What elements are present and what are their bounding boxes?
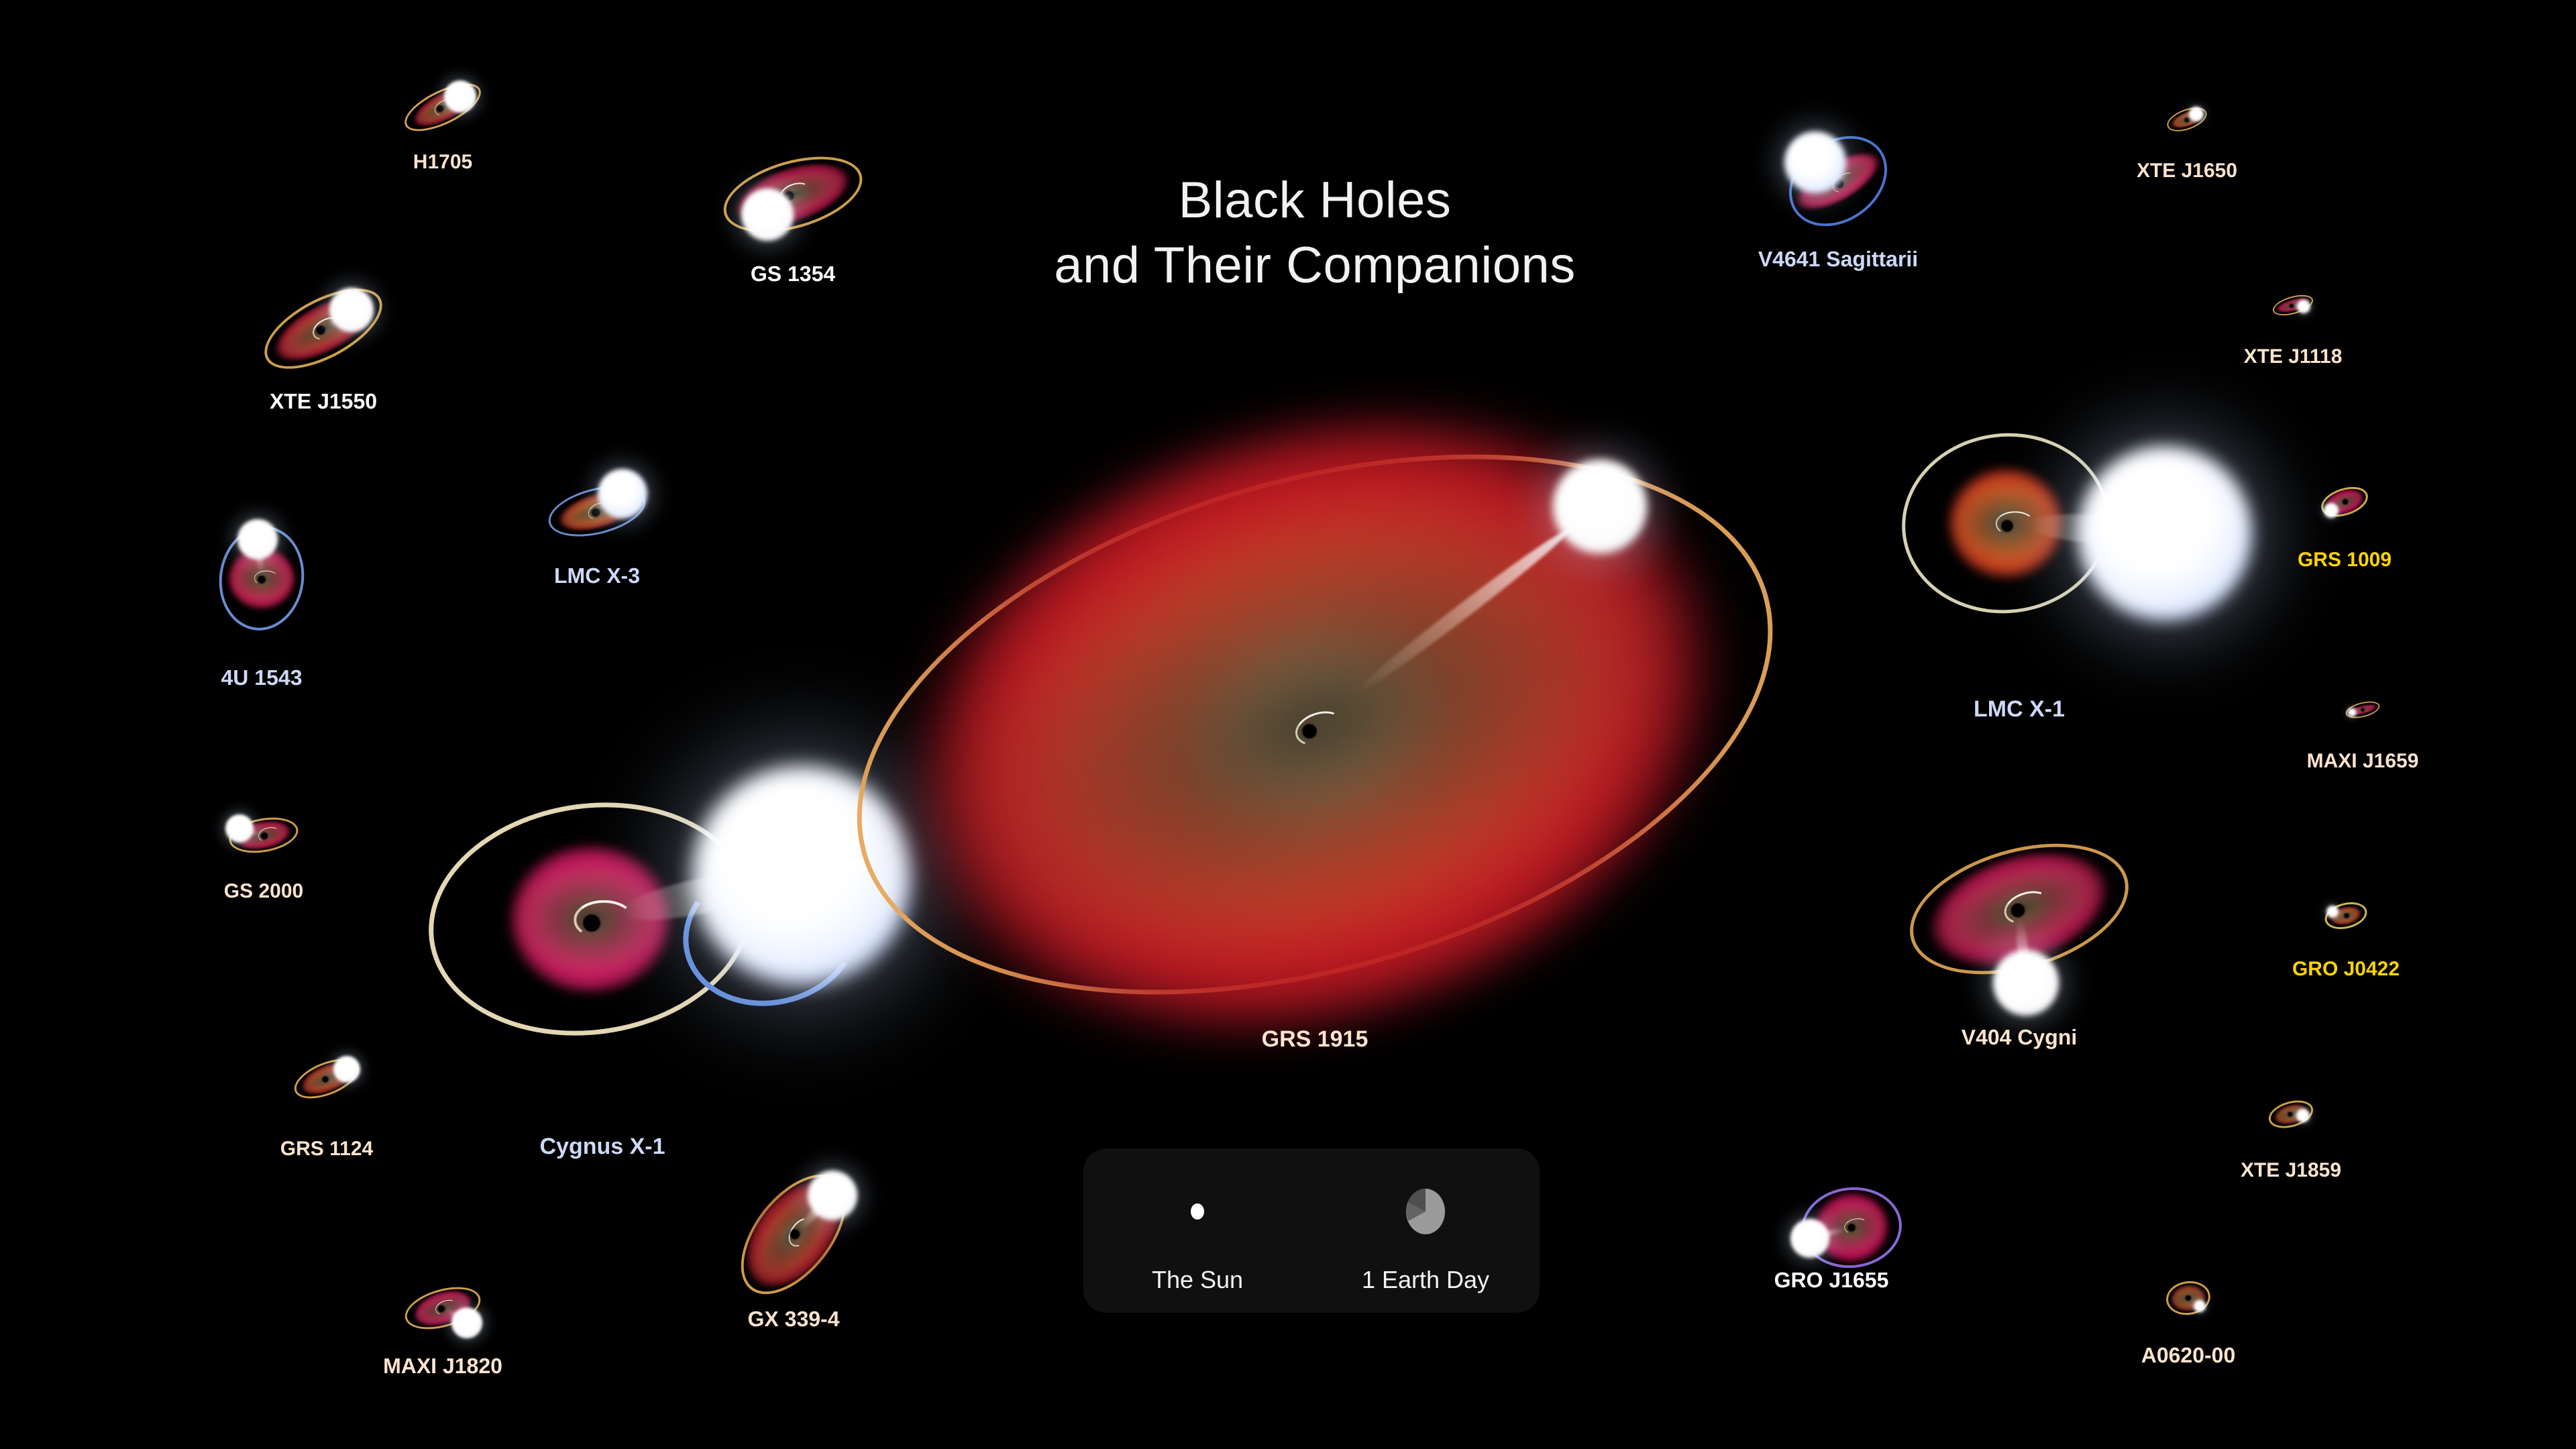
companion-star-h1705 (444, 80, 476, 113)
system-label-gro-j0422[interactable]: GRO J0422 (2292, 958, 2400, 981)
companion-star-xte-j1859 (2296, 1109, 2310, 1122)
companion-star-xte-j1550 (329, 288, 374, 332)
star-core (1784, 131, 1846, 193)
star-core (598, 469, 647, 519)
system-label-cygnus-x-1[interactable]: Cygnus X-1 (539, 1134, 665, 1160)
star-core (1790, 1219, 1829, 1258)
system-label-gx-339-4[interactable]: GX 339-4 (748, 1307, 840, 1332)
companion-star-v4641-sagittarii (1784, 131, 1846, 193)
system-label-grs-1124[interactable]: GRS 1124 (280, 1138, 373, 1161)
companion-star-grs-1915 (1553, 460, 1647, 553)
system-label-xte-j1859[interactable]: XTE J1859 (2241, 1159, 2341, 1182)
system-label-xte-j1118[interactable]: XTE J1118 (2244, 345, 2343, 368)
system-label-grs-1915[interactable]: GRS 1915 (1262, 1026, 1368, 1053)
system-label-lmc-x-3[interactable]: LMC X-3 (554, 563, 640, 588)
black-hole-gro-j0422 (2345, 914, 2349, 918)
companion-star-gs-2000 (225, 814, 254, 843)
system-label-maxi-j1659[interactable]: MAXI J1659 (2307, 750, 2419, 773)
companion-star-xte-j1650 (2189, 107, 2204, 121)
system-label-v404-cygni[interactable]: V404 Cygni (1962, 1025, 2078, 1050)
system-label-lmc-x-1[interactable]: LMC X-1 (1974, 696, 2065, 722)
black-hole-gx-339-4 (791, 1230, 800, 1239)
star-core (2324, 503, 2339, 518)
system-label-v4641-sagittarii[interactable]: V4641 Sagittarii (1758, 247, 1918, 272)
star-core (808, 1171, 857, 1220)
star-core (1993, 950, 2059, 1016)
companion-star-v404-cygni (1993, 950, 2059, 1016)
system-label-xte-j1550[interactable]: XTE J1550 (270, 389, 377, 414)
star-core (2326, 906, 2339, 918)
companion-star-gx-339-4 (808, 1171, 857, 1220)
title-line-1: Black Holes (1033, 168, 1597, 233)
system-label-gro-j1655[interactable]: GRO J1655 (1774, 1268, 1889, 1293)
visualization-canvas: Black Holes and Their Companions H1705GS… (0, 0, 2576, 1449)
star-core (1553, 460, 1647, 553)
legend-caption-sun: The Sun (1152, 1266, 1243, 1294)
black-hole-v404-cygni (2012, 904, 2025, 917)
system-label-xte-j1650[interactable]: XTE J1650 (2137, 160, 2237, 182)
black-hole-gro-j1655 (1848, 1224, 1855, 1231)
day-swatch-wrap (1405, 1168, 1446, 1255)
star-core (2348, 708, 2357, 717)
star-core (451, 1307, 482, 1338)
companion-star-4u-1543 (237, 519, 278, 559)
system-label-h1705[interactable]: H1705 (413, 151, 472, 174)
companion-star-grs-1124 (333, 1056, 360, 1083)
system-label-gs-2000[interactable]: GS 2000 (224, 880, 303, 903)
companion-star-maxi-j1659 (2348, 708, 2357, 717)
legend-item-one-earth-day: 1 Earth Day (1311, 1168, 1540, 1294)
black-hole-cygnus-x-1 (584, 915, 600, 931)
system-label-grs-1009[interactable]: GRS 1009 (2298, 549, 2392, 572)
companion-star-lmc-x-1 (2078, 447, 2251, 620)
star-core (329, 288, 374, 332)
star-core (741, 189, 794, 241)
sun-dot-icon (1191, 1203, 1204, 1220)
legend-caption-earth-day: 1 Earth Day (1362, 1266, 1489, 1294)
companion-star-gro-j0422 (2326, 906, 2339, 918)
star-core (2078, 447, 2251, 620)
legend-panel: The Sun 1 Earth Day (1083, 1148, 1540, 1313)
star-core (2297, 300, 2310, 313)
black-hole-grs-1009 (2343, 500, 2348, 504)
star-core (225, 814, 254, 843)
companion-star-gs-1354 (741, 189, 794, 241)
star-core (237, 519, 278, 559)
system-label-gs-1354[interactable]: GS 1354 (751, 262, 835, 286)
earth-day-pie-icon (1405, 1188, 1446, 1235)
black-hole-grs-1915 (1303, 724, 1316, 738)
companion-star-xte-j1118 (2297, 300, 2310, 313)
title-line-2: and Their Companions (1033, 233, 1597, 298)
companion-star-a0620-00 (2194, 1300, 2206, 1312)
black-hole-4u-1543 (258, 576, 265, 583)
black-hole-maxi-j1659 (2361, 708, 2364, 711)
star-core (2189, 107, 2204, 121)
system-label-4u-1543[interactable]: 4U 1543 (221, 665, 303, 690)
sun-swatch-wrap (1191, 1168, 1204, 1255)
companion-star-grs-1009 (2324, 503, 2339, 518)
legend-item-the-sun: The Sun (1083, 1168, 1311, 1294)
system-label-a0620-00[interactable]: A0620-00 (2141, 1343, 2236, 1368)
system-label-maxi-j1820[interactable]: MAXI J1820 (383, 1354, 502, 1379)
black-hole-lmc-x-1 (2002, 521, 2012, 531)
star-core (2194, 1300, 2206, 1312)
star-core (333, 1056, 360, 1083)
star-core (2296, 1109, 2310, 1122)
companion-star-maxi-j1820 (451, 1307, 482, 1338)
star-core (444, 80, 476, 113)
companion-star-gro-j1655 (1790, 1219, 1829, 1258)
companion-star-lmc-x-3 (598, 469, 647, 519)
page-title: Black Holes and Their Companions (1033, 168, 1597, 299)
